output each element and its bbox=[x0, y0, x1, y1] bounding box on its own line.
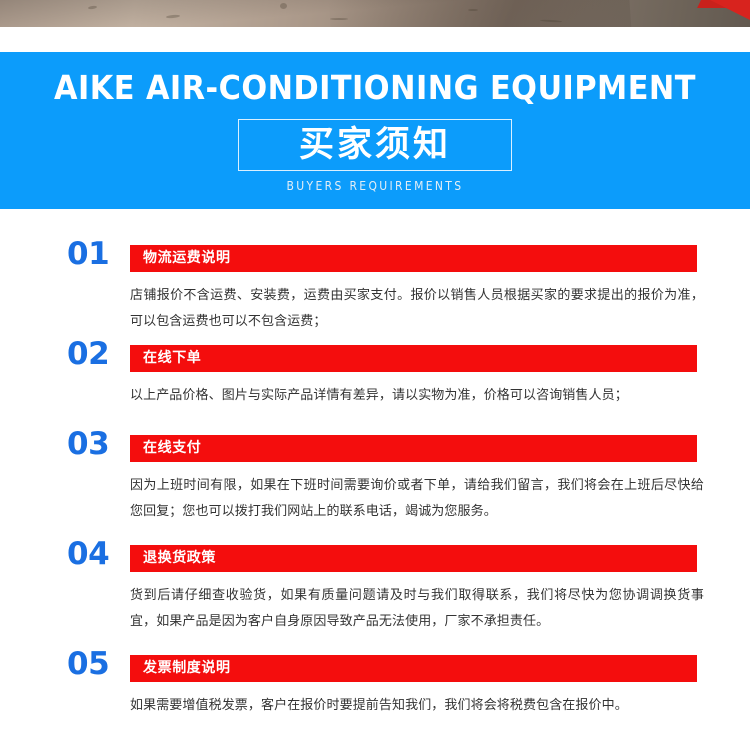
item-body-text: 因为上班时间有限，如果在下班时间需要询价或者下单，请给我们留言，我们将会在上班后… bbox=[130, 473, 704, 525]
photo-speck bbox=[88, 5, 97, 9]
page-title: AIKE AIR-CONDITIONING EQUIPMENT bbox=[30, 69, 720, 107]
item-body-text: 以上产品价格、图片与实际产品详情有差异，请以实物为准，价格可以咨询销售人员； bbox=[130, 383, 704, 409]
boxed-title-frame: 买家须知 bbox=[238, 119, 512, 171]
item-heading-bar: 在线支付 bbox=[130, 435, 697, 462]
red-object-corner bbox=[698, 0, 750, 20]
photo-speck bbox=[166, 14, 180, 18]
item-heading: 在线支付 bbox=[143, 435, 201, 462]
photo-speck bbox=[330, 18, 348, 20]
buyers-requirements-page: AIKE AIR-CONDITIONING EQUIPMENT 买家须知 BUY… bbox=[0, 0, 750, 749]
item-number: 01 bbox=[67, 239, 125, 270]
item-number: 02 bbox=[67, 339, 125, 370]
boxed-title-label: 买家须知 bbox=[239, 120, 511, 172]
page-subtitle: BUYERS REQUIREMENTS bbox=[38, 179, 713, 193]
item-body-text: 店铺报价不含运费、安装费，运费由买家支付。报价以销售人员根据买家的要求提出的报价… bbox=[130, 283, 704, 335]
item-number: 05 bbox=[67, 649, 125, 680]
top-photo-strip bbox=[0, 0, 750, 27]
item-heading-bar: 物流运费说明 bbox=[130, 245, 697, 272]
item-number: 04 bbox=[67, 539, 125, 570]
item-heading-bar: 在线下单 bbox=[130, 345, 697, 372]
item-heading: 退换货政策 bbox=[143, 545, 216, 572]
item-heading-bar: 发票制度说明 bbox=[130, 655, 697, 682]
requirements-list: 01 物流运费说明 店铺报价不含运费、安装费，运费由买家支付。报价以销售人员根据… bbox=[0, 209, 750, 749]
hero-banner: AIKE AIR-CONDITIONING EQUIPMENT 买家须知 BUY… bbox=[0, 52, 750, 209]
item-heading: 在线下单 bbox=[143, 345, 201, 372]
item-heading: 物流运费说明 bbox=[143, 245, 231, 272]
photo-speck bbox=[468, 9, 478, 11]
photo-shadow bbox=[329, 0, 632, 27]
item-number: 03 bbox=[67, 429, 125, 460]
photo-speck bbox=[280, 3, 287, 9]
photo-banner-gap bbox=[0, 27, 750, 52]
item-body-text: 如果需要增值税发票，客户在报价时要提前告知我们，我们将会将税费包含在报价中。 bbox=[130, 693, 704, 719]
item-heading-bar: 退换货政策 bbox=[130, 545, 697, 572]
item-heading: 发票制度说明 bbox=[143, 655, 231, 682]
item-body-text: 货到后请仔细查收验货，如果有质量问题请及时与我们取得联系，我们将尽快为您协调调换… bbox=[130, 583, 704, 635]
